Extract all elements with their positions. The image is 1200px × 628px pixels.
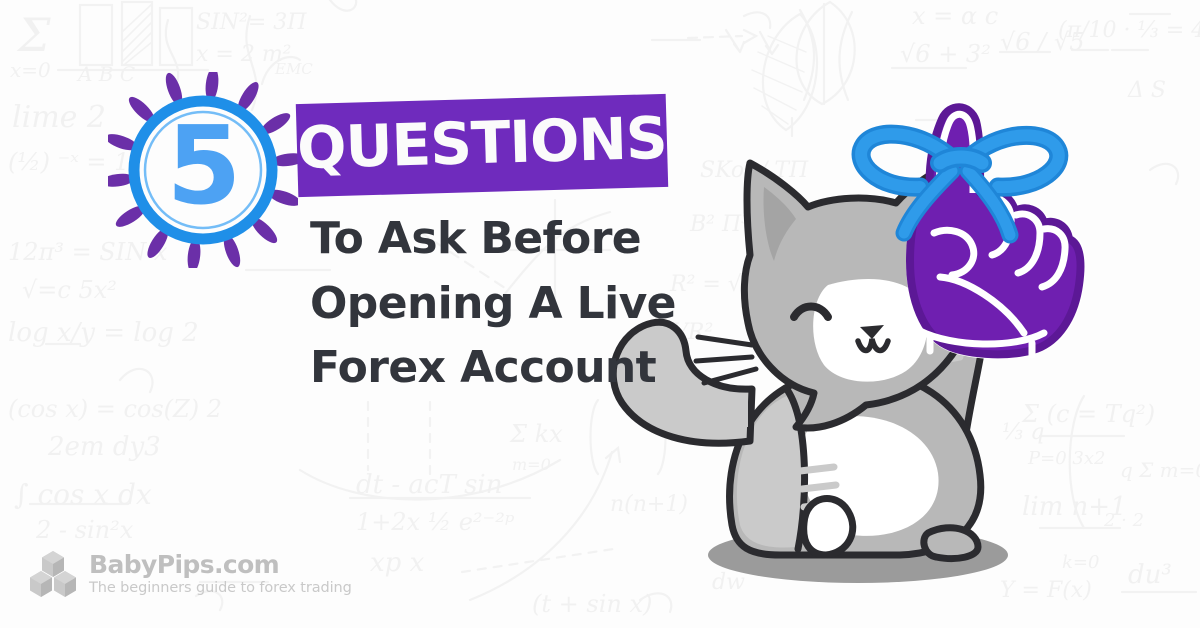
- background-formula: x = α c: [912, 2, 998, 30]
- cat-rear-paw: [924, 528, 978, 559]
- subtitle-line-3: Forex Account: [310, 336, 730, 401]
- background-formula: SIN²= 3Π: [196, 10, 306, 35]
- hexagon-bottom-right: [54, 571, 76, 597]
- background-formula: ∫ cos x dx: [14, 478, 152, 511]
- hexagon-bottom-left: [30, 571, 52, 597]
- headline-banner-word: QUESTIONS: [296, 108, 667, 180]
- background-formula: Σ: [18, 8, 51, 62]
- badge-number-label: 5: [108, 72, 298, 268]
- subtitle-line-1: To Ask Before: [310, 207, 730, 272]
- background-formula: 2 - sin²x: [36, 516, 133, 544]
- background-formula: (cos x) = cos(Z) 2: [8, 395, 222, 423]
- logo-tagline: The beginners guide to forex trading: [89, 580, 352, 596]
- cat-front-paw: [804, 499, 853, 556]
- background-formula: dt - acT sin: [356, 470, 502, 500]
- background-formula: lime 2: [12, 100, 106, 135]
- number-five-badge: 5: [108, 72, 298, 268]
- logo-brand-name: BabyPips.com: [89, 552, 352, 578]
- background-formula: m=0: [512, 455, 551, 474]
- subtitle-line-2: Opening A Live: [310, 272, 730, 337]
- background-formula: 2em dy3: [48, 432, 161, 462]
- headline-banner: QUESTIONS: [296, 94, 668, 197]
- background-formula: √=c 5x²: [22, 276, 117, 304]
- banner-canvas: Σx=0A B CSIN²= 3Πx = 2 m²lime 2EMC(½) ⁻ˣ…: [0, 0, 1200, 628]
- three-hexagons-icon: [30, 550, 76, 598]
- headline-subtitle: To Ask Before Opening A Live Forex Accou…: [310, 207, 730, 401]
- background-formula: x=0: [10, 58, 51, 82]
- babypips-logo[interactable]: BabyPips.com The beginners guide to fore…: [30, 550, 352, 598]
- background-formula: Σ kx: [510, 420, 563, 448]
- background-formula: (π/10 · ⅓ = 4)²: [1058, 18, 1200, 43]
- logo-text-block: BabyPips.com The beginners guide to fore…: [89, 552, 352, 596]
- hexagon-top: [42, 551, 64, 577]
- background-formula: 1+2x ½ e²⁻²ᵖ: [356, 508, 514, 536]
- background-formula: xp x: [370, 548, 424, 578]
- background-formula: √6 / √5: [1000, 28, 1084, 56]
- background-formula: log x/y = log 2: [8, 318, 199, 348]
- background-formula: x = 2 m²: [196, 42, 292, 67]
